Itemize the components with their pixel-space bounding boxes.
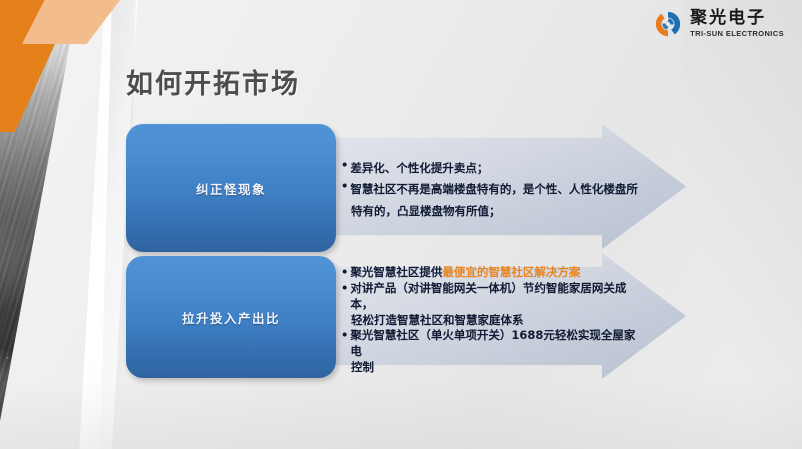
bullet-text: 聚光智慧社区提供最便宜的智慧社区解决方案 <box>350 265 580 281</box>
bullet-point-icon: • <box>341 328 348 344</box>
plain-text: 特有的，凸显楼盘物有所值； <box>351 204 501 218</box>
bullet-item: •聚光智慧社区（单火单项开关）1688元轻松实现全屋家电 <box>341 328 646 360</box>
bullet-point-icon: • <box>341 158 348 174</box>
highlighted-text: 最便宜的智慧社区解决方案 <box>442 265 580 279</box>
plain-text: 控制 <box>351 360 374 374</box>
plain-text: 轻松打造智慧社区和智慧家庭体系 <box>351 313 524 327</box>
bullet-indent-spacer <box>341 313 349 329</box>
plain-text: 智慧社区不再是高端楼盘特有的，是个性、人性化楼盘所 <box>350 182 638 196</box>
bullet-continuation-line: 控制 <box>341 360 646 376</box>
bullet-item: •差异化、个性化提升卖点； <box>341 158 641 179</box>
photo-speckle-overlay <box>0 319 80 449</box>
bullet-text: 聚光智慧社区（单火单项开关）1688元轻松实现全屋家电 <box>350 328 646 360</box>
bullet-indent-spacer <box>341 201 349 217</box>
stage-box-2[interactable]: 拉升投入产出比 <box>126 256 336 378</box>
presentation-slide: 聚光电子 TRI-SUN ELECTRONICS 如何开拓市场 •差异化、个性化… <box>0 0 802 449</box>
bullet-continuation-line: 特有的，凸显楼盘物有所值； <box>341 201 641 222</box>
company-logo: 聚光电子 TRI-SUN ELECTRONICS <box>653 9 784 39</box>
bullet-item: •聚光智慧社区提供最便宜的智慧社区解决方案 <box>341 265 646 281</box>
logo-wordmark: 聚光电子 TRI-SUN ELECTRONICS <box>690 10 784 38</box>
plain-text: 差异化、个性化提升卖点； <box>350 161 488 175</box>
bullet-indent-spacer <box>341 360 349 376</box>
bullet-text: 轻松打造智慧社区和智慧家庭体系 <box>351 313 524 329</box>
page-title: 如何开拓市场 <box>126 62 300 101</box>
arrow-content-1: •差异化、个性化提升卖点；•智慧社区不再是高端楼盘特有的，是个性、人性化楼盘所 … <box>341 158 641 222</box>
bullet-continuation-line: 轻松打造智慧社区和智慧家庭体系 <box>341 313 646 329</box>
logo-company-name-en: TRI-SUN ELECTRONICS <box>690 30 784 38</box>
plain-text: 聚光智慧社区提供 <box>350 265 442 279</box>
stage-box-1-label: 纠正怪现象 <box>196 179 266 198</box>
plain-text: 聚光智慧社区（单火单项开关）1688元轻松实现全屋家电 <box>350 328 635 358</box>
bullet-text: 差异化、个性化提升卖点； <box>350 158 488 179</box>
stage-box-1[interactable]: 纠正怪现象 <box>126 124 336 252</box>
bullet-text: 对讲产品（对讲智能网关一体机）节约智能家居网关成本， <box>350 281 646 313</box>
logo-company-name-cn: 聚光电子 <box>690 10 784 27</box>
bullet-text: 智慧社区不再是高端楼盘特有的，是个性、人性化楼盘所 <box>350 179 638 200</box>
bullet-item: •对讲产品（对讲智能网关一体机）节约智能家居网关成本， <box>341 281 646 313</box>
decorative-right-shade <box>682 0 802 449</box>
bullet-point-icon: • <box>341 281 348 297</box>
bullet-point-icon: • <box>341 179 348 195</box>
arrow-content-2: •聚光智慧社区提供最便宜的智慧社区解决方案•对讲产品（对讲智能网关一体机）节约智… <box>341 265 646 376</box>
bullet-text: 控制 <box>351 360 374 376</box>
tri-sun-swirl-logo-icon <box>653 9 683 39</box>
stage-box-2-label: 拉升投入产出比 <box>182 308 280 327</box>
bullet-point-icon: • <box>341 265 348 281</box>
plain-text: 对讲产品（对讲智能网关一体机）节约智能家居网关成本， <box>350 281 626 311</box>
bullet-text: 特有的，凸显楼盘物有所值； <box>351 201 501 222</box>
bullet-item: •智慧社区不再是高端楼盘特有的，是个性、人性化楼盘所 <box>341 179 641 200</box>
